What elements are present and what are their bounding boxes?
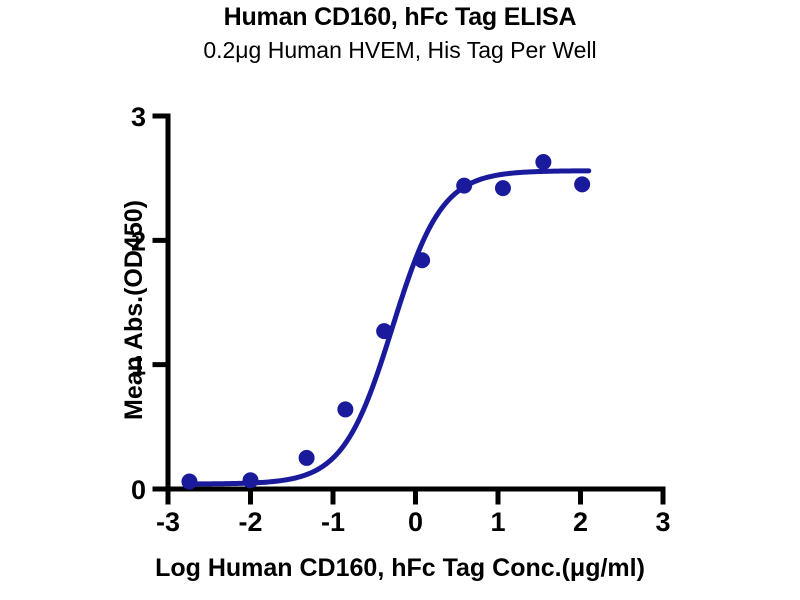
- x-axis-ticks: -3-2-10123: [156, 489, 671, 537]
- y-axis-ticks: 0123: [131, 102, 168, 505]
- x-tick-label: -2: [238, 507, 262, 537]
- data-point: [495, 180, 511, 196]
- x-tick-label: 2: [573, 507, 588, 537]
- y-tick-label: 3: [131, 102, 146, 132]
- data-point: [299, 450, 315, 466]
- x-tick-label: 0: [408, 507, 423, 537]
- data-point: [337, 401, 353, 417]
- data-point: [456, 178, 472, 194]
- data-points: [181, 154, 590, 490]
- data-point: [243, 472, 259, 488]
- data-point: [414, 252, 430, 268]
- y-tick-label: 2: [131, 226, 146, 256]
- x-tick-label: 1: [490, 507, 505, 537]
- y-tick-label: 0: [131, 475, 146, 505]
- data-point: [535, 154, 551, 170]
- data-point: [181, 474, 197, 490]
- x-tick-label: -1: [321, 507, 345, 537]
- x-tick-label: -3: [156, 507, 180, 537]
- y-tick-label: 1: [131, 351, 146, 381]
- x-tick-label: 3: [655, 507, 670, 537]
- y-axis-group: 0123: [131, 102, 168, 505]
- data-point: [574, 176, 590, 192]
- data-point: [376, 323, 392, 339]
- chart-page: Human CD160, hFc Tag ELISA 0.2μg Human H…: [0, 0, 800, 600]
- chart-plot-area: 0123 -3-2-10123: [0, 0, 800, 600]
- x-axis-group: -3-2-10123: [156, 489, 671, 537]
